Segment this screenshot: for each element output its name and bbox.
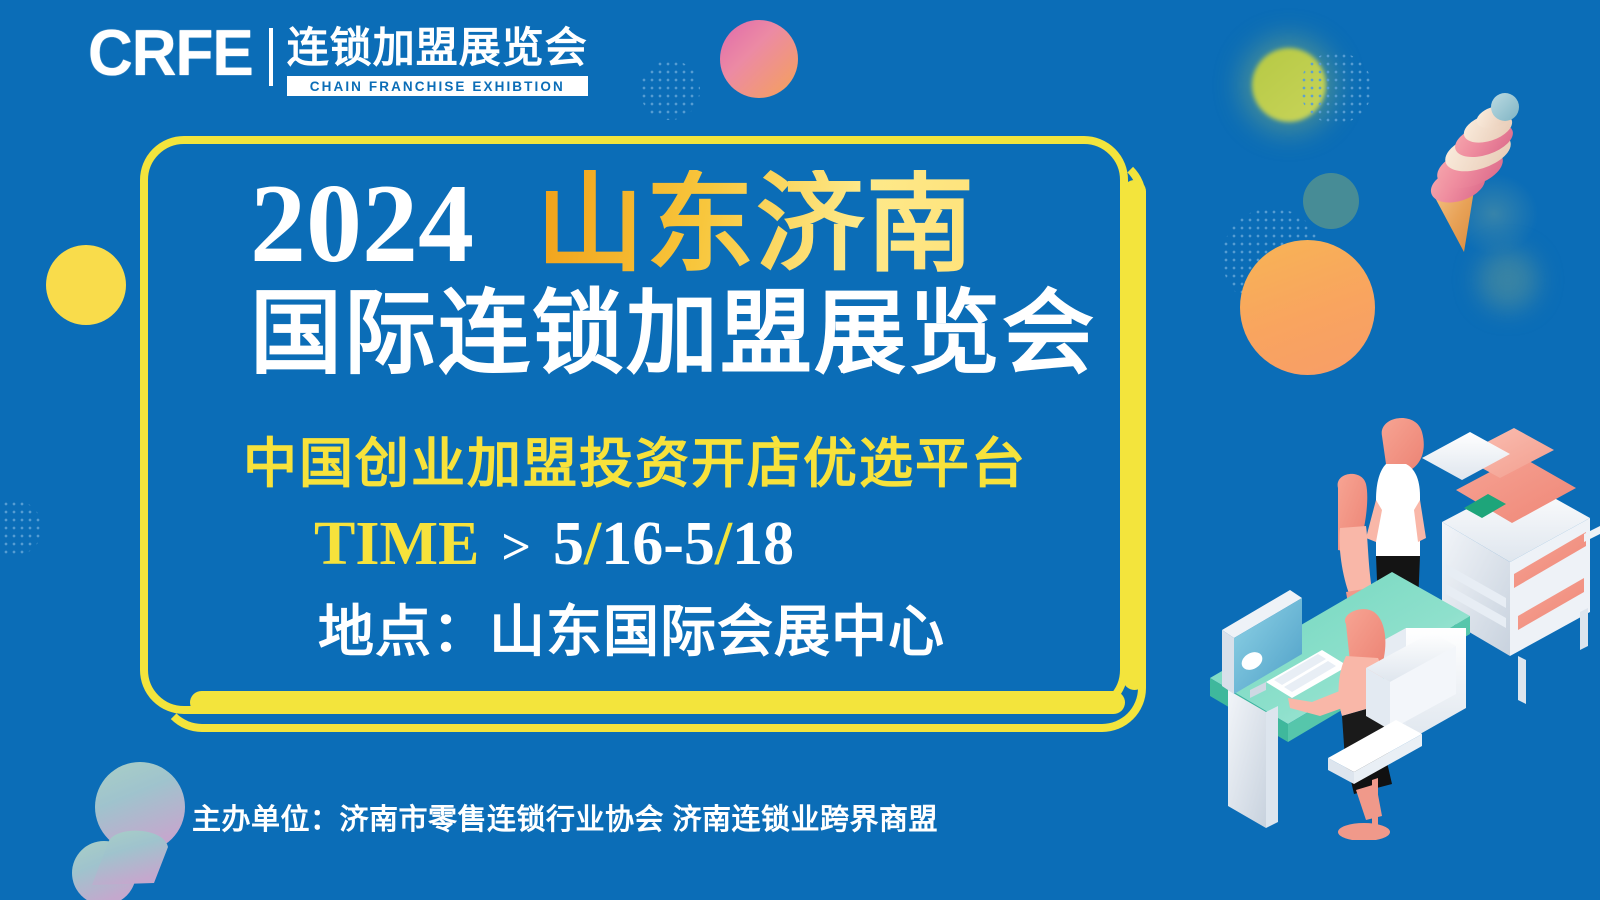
headline-year: 2024	[250, 168, 474, 280]
headline-line-1: 2024 山东济南	[250, 168, 976, 280]
circle-green-yellow	[1252, 48, 1326, 122]
promotional-banner: CRFE 连锁加盟展览会 CHAIN FRANCHISE EXHIBTION 2…	[0, 0, 1600, 900]
logo-brand-text: CRFE	[88, 22, 253, 86]
logo-divider	[269, 28, 273, 86]
time-separator-icon: >	[501, 522, 531, 574]
crfe-logo: CRFE 连锁加盟展览会 CHAIN FRANCHISE EXHIBTION	[88, 24, 588, 96]
date-part-3: 18	[732, 510, 794, 578]
halftone-dots-upper-right	[1300, 52, 1372, 124]
gradient-circle-pink-orange	[720, 20, 798, 98]
headline-event-name: 国际连锁加盟展览会	[250, 288, 1096, 380]
gradient-blob-bottom-left	[68, 755, 208, 900]
organizer-line: 主办单位：济南市零售连锁行业协会 济南连锁业跨界商盟	[192, 806, 938, 835]
event-time-row: TIME > 5/16-5/18	[314, 513, 794, 575]
headline-city: 山东济南	[536, 170, 976, 278]
circle-teal-small	[1303, 173, 1359, 229]
date-part-2: 16-5	[601, 510, 715, 578]
halftone-dots-top-center	[640, 60, 700, 120]
date-slash-1: /	[584, 510, 601, 578]
ice-cream-cone-icon	[1398, 86, 1538, 261]
logo-english-name: CHAIN FRANCHISE EXHIBTION	[287, 76, 588, 96]
event-venue: 地点：山东国际会展中心	[318, 604, 945, 660]
isometric-office-illustration	[1170, 360, 1600, 840]
circle-orange-large	[1240, 240, 1375, 375]
event-date-value: 5/16-5/18	[553, 513, 794, 575]
date-part-1: 5	[553, 510, 584, 578]
date-slash-2: /	[715, 510, 732, 578]
logo-chinese-name: 连锁加盟展览会	[287, 26, 588, 70]
slogan-text: 中国创业加盟投资开店优选平台	[243, 437, 1027, 491]
time-label: TIME	[314, 513, 479, 575]
circle-yellow-left	[46, 245, 126, 325]
halftone-dots-mid-right	[1222, 208, 1322, 308]
halftone-dots-lower-left	[0, 500, 42, 556]
